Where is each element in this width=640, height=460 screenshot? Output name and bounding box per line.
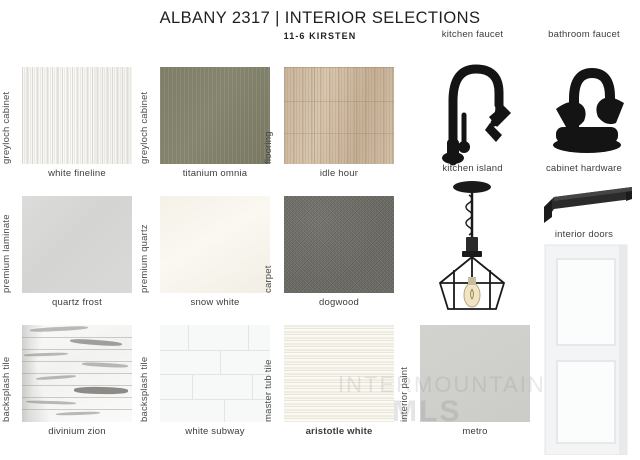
swatch-name-label: idle hour — [284, 168, 394, 180]
swatch-category-label: carpet — [262, 196, 276, 293]
product-kitchen-faucet[interactable]: kitchen faucet — [420, 29, 525, 169]
swatch-cell-dogwood[interactable]: carpet dogwood — [262, 196, 394, 311]
swatch-name-label: divinium zion — [22, 426, 132, 438]
swatch-divinium-zion — [22, 325, 132, 422]
kitchen-faucet-icon — [420, 43, 525, 173]
swatch-cell-idle-hour[interactable]: flooring idle hour — [262, 67, 394, 182]
page-title: ALBANY 2317 | INTERIOR SELECTIONS — [0, 8, 640, 28]
product-label: kitchen island — [420, 163, 525, 175]
pendant-light-icon — [420, 177, 525, 328]
swatch-aristotle-white — [284, 325, 394, 422]
product-interior-doors[interactable]: interior doors — [528, 229, 640, 455]
bathroom-faucet-icon — [528, 43, 640, 168]
swatch-name-label: titanium omnia — [160, 168, 270, 180]
swatch-category-label: flooring — [262, 67, 276, 164]
product-label: bathroom faucet — [528, 29, 640, 41]
swatch-cell-snow-white[interactable]: premium quartz snow white — [138, 196, 270, 311]
swatch-name-label: quartz frost — [22, 297, 132, 309]
swatch-cell-aristotle-white[interactable]: master tub tile aristotle white — [262, 325, 394, 440]
swatch-cell-divinium-zion[interactable]: backsplash tile divinium zion — [0, 325, 132, 440]
watermark-logo: MLS — [392, 396, 461, 428]
product-label: kitchen faucet — [420, 29, 525, 41]
swatch-category-label: backsplash tile — [138, 325, 152, 422]
swatch-category-label: greyloch cabinet — [0, 67, 14, 164]
swatch-category-label: greyloch cabinet — [138, 67, 152, 164]
product-label: interior doors — [528, 229, 640, 241]
swatch-name-label: white subway — [160, 426, 270, 438]
product-bathroom-faucet[interactable]: bathroom faucet — [528, 29, 640, 169]
swatch-cell-white-fineline[interactable]: greyloch cabinet white fineline — [0, 67, 132, 182]
panel-door-icon — [528, 243, 640, 460]
swatch-quartz-frost — [22, 196, 132, 293]
swatch-cell-titanium-omnia[interactable]: greyloch cabinet titanium omnia — [138, 67, 270, 182]
swatch-name-label: dogwood — [284, 297, 394, 309]
swatch-white-fineline — [22, 67, 132, 164]
swatch-cell-quartz-frost[interactable]: premium laminate quartz frost — [0, 196, 132, 311]
swatch-category-label: backsplash tile — [0, 325, 14, 422]
product-cabinet-hardware[interactable]: cabinet hardware — [528, 163, 640, 233]
swatch-white-subway — [160, 325, 270, 422]
swatch-category-label: premium quartz — [138, 196, 152, 293]
swatch-snow-white — [160, 196, 270, 293]
product-kitchen-island[interactable]: kitchen island — [420, 163, 525, 323]
interior-selections-board: ALBANY 2317 | INTERIOR SELECTIONS 11-6 K… — [0, 0, 640, 455]
swatch-name-label: aristotle white — [284, 426, 394, 438]
swatch-cell-white-subway[interactable]: backsplash tile white subway — [138, 325, 270, 440]
swatch-category-label: premium laminate — [0, 196, 14, 293]
product-label: cabinet hardware — [528, 163, 640, 175]
swatch-idle-hour — [284, 67, 394, 164]
swatch-dogwood — [284, 196, 394, 293]
swatch-category-label: master tub tile — [262, 325, 276, 422]
swatch-name-label: snow white — [160, 297, 270, 309]
swatch-titanium-omnia — [160, 67, 270, 164]
swatch-name-label: white fineline — [22, 168, 132, 180]
